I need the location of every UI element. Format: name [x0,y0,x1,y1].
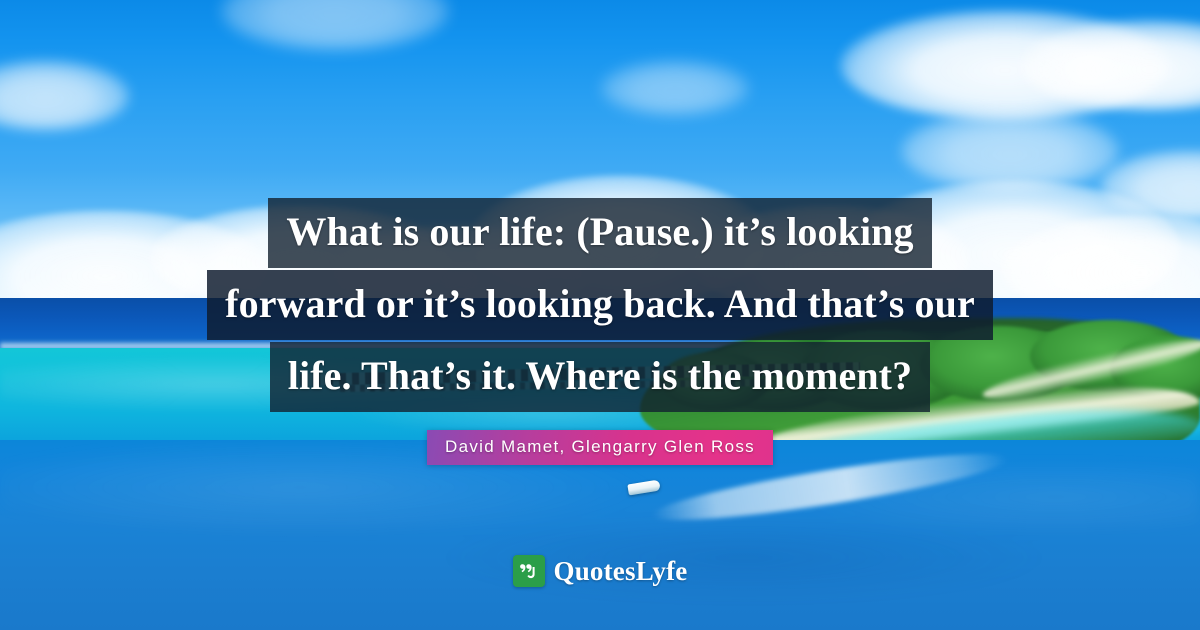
quote-line-1: What is our life: (Pause.) it’s looking [268,198,931,268]
quotation-mark-icon [513,555,545,587]
brand-logo: QuotesLyfe [0,555,1200,587]
quote-card: What is our life: (Pause.) it’s looking … [0,0,1200,630]
brand-name: QuotesLyfe [554,556,688,587]
quote-text-block: What is our life: (Pause.) it’s looking … [0,198,1200,412]
quote-line-3: life. That’s it. Where is the moment? [270,342,930,412]
cloud [900,110,1120,190]
quote-line-2: forward or it’s looking back. And that’s… [207,270,993,340]
attribution-banner: David Mamet, Glengarry Glen Ross [427,430,773,465]
attribution-wrapper: David Mamet, Glengarry Glen Ross [0,430,1200,465]
cloud [600,60,750,115]
near-ocean-texture [0,440,1200,630]
